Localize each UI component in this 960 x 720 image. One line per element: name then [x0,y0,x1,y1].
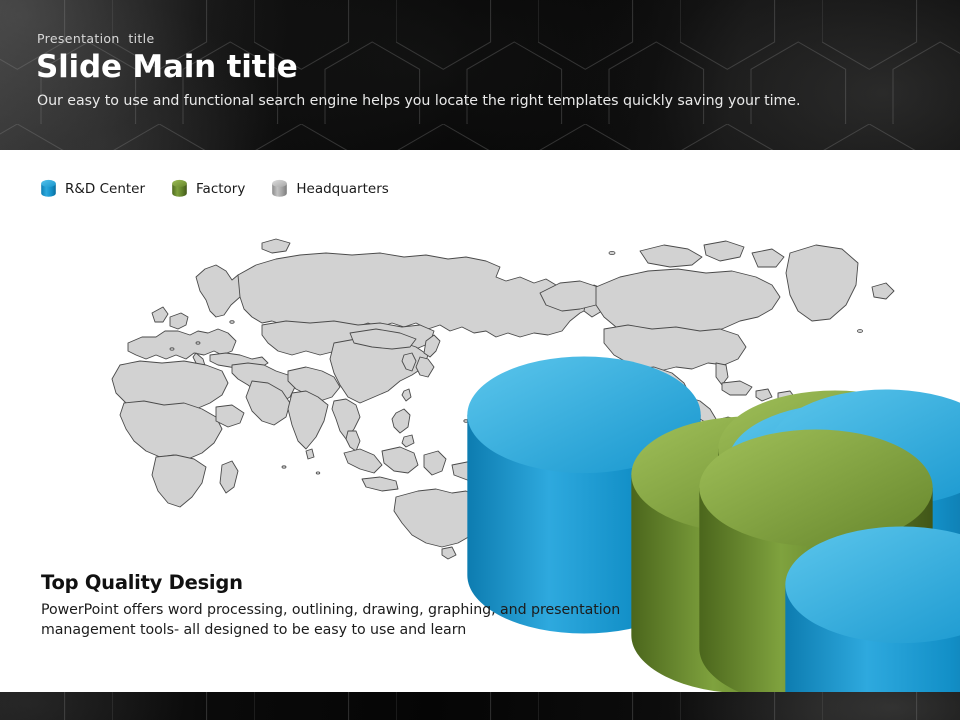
section-title: Top Quality Design [41,571,243,594]
world-map[interactable] [0,225,960,575]
marker-brazil[interactable] [845,449,960,720]
presentation-kicker: Presentation title [37,31,155,46]
cylinder-marker-gray-icon [271,178,288,199]
map-legend: R&D Center [40,178,415,199]
slide: Presentation title Slide Main title Our … [0,0,960,720]
slide-footer [0,692,960,720]
slide-header: Presentation title Slide Main title Our … [0,0,960,150]
cylinder-marker-green-icon [171,178,188,199]
legend-item-factory[interactable]: Factory [171,178,245,199]
footer-hexagon-pattern [0,692,960,720]
page-subtitle: Our easy to use and functional search en… [37,93,800,109]
legend-label-rnd-center: R&D Center [65,181,145,197]
legend-item-rnd-center[interactable]: R&D Center [40,178,145,199]
legend-item-headquarters[interactable]: Headquarters [271,178,388,199]
section-body: PowerPoint offers word processing, outli… [41,600,721,640]
cylinder-marker-blue-icon [40,178,57,199]
legend-label-headquarters: Headquarters [296,181,388,197]
page-title: Slide Main title [36,50,298,84]
legend-label-factory: Factory [196,181,245,197]
section-body-line-2: management tools- all designed to be eas… [41,620,721,640]
section-body-line-1: PowerPoint offers word processing, outli… [41,600,721,620]
